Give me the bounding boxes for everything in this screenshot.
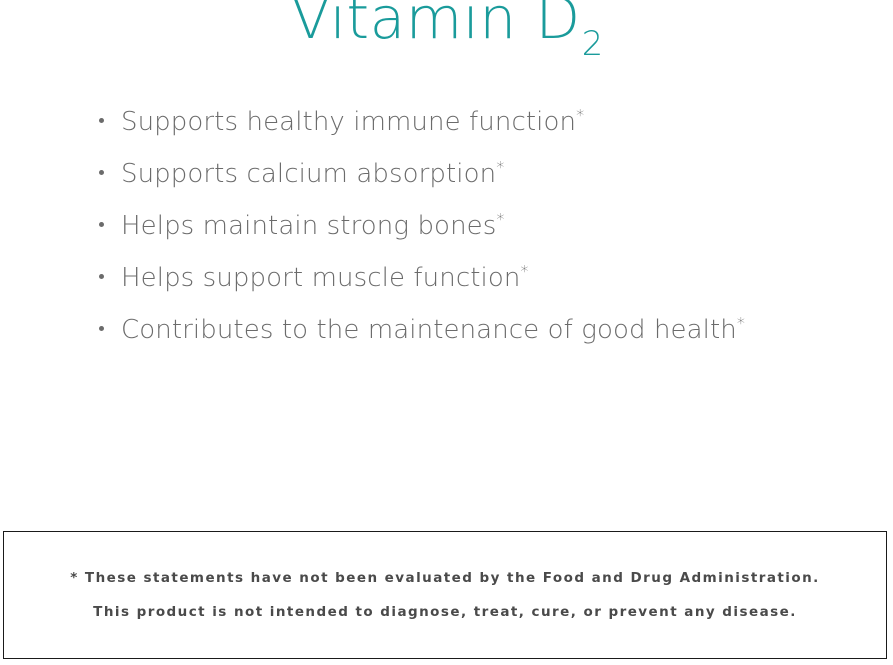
benefit-label: Helps support muscle function* [121, 252, 528, 304]
benefit-label-text: Helps maintain strong bones [121, 211, 496, 241]
bullet-dot-icon [99, 118, 104, 123]
product-title-text: Vitamin D2 [291, 0, 602, 57]
benefit-label-text: Contributes to the maintenance of good h… [121, 315, 737, 345]
benefit-label-text: Supports healthy immune function [121, 107, 576, 137]
benefit-label-text: Helps support muscle function [121, 263, 520, 293]
bullet-dot-icon [99, 326, 104, 331]
footnote-marker: * [520, 261, 528, 280]
footnote-marker: * [496, 157, 504, 176]
list-item: Supports healthy immune function* [99, 96, 859, 148]
bullet-dot-icon [99, 222, 104, 227]
list-item: Supports calcium absorption* [99, 148, 859, 200]
list-item: Contributes to the maintenance of good h… [99, 304, 859, 356]
list-item: Helps maintain strong bones* [99, 200, 859, 252]
benefit-label: Contributes to the maintenance of good h… [121, 304, 745, 356]
footnote-marker: * [496, 209, 504, 228]
benefits-list: Supports healthy immune function* Suppor… [99, 96, 859, 356]
benefit-label: Helps maintain strong bones* [121, 200, 504, 252]
disclaimer-line-2: This product is not intended to diagnose… [93, 604, 797, 620]
product-title-subscript: 2 [582, 24, 603, 63]
bullet-dot-icon [99, 170, 104, 175]
disclaimer-line-1: * These statements have not been evaluat… [70, 570, 820, 586]
page-title: Vitamin D2 [0, 0, 893, 57]
footnote-marker: * [737, 313, 745, 332]
disclaimer-box: * These statements have not been evaluat… [3, 531, 887, 659]
benefit-label-text: Supports calcium absorption [121, 159, 496, 189]
benefit-label: Supports healthy immune function* [121, 96, 584, 148]
benefit-label: Supports calcium absorption* [121, 148, 504, 200]
list-item: Helps support muscle function* [99, 252, 859, 304]
footnote-marker: * [576, 105, 584, 124]
product-title-main: Vitamin D [291, 0, 581, 52]
bullet-dot-icon [99, 274, 104, 279]
